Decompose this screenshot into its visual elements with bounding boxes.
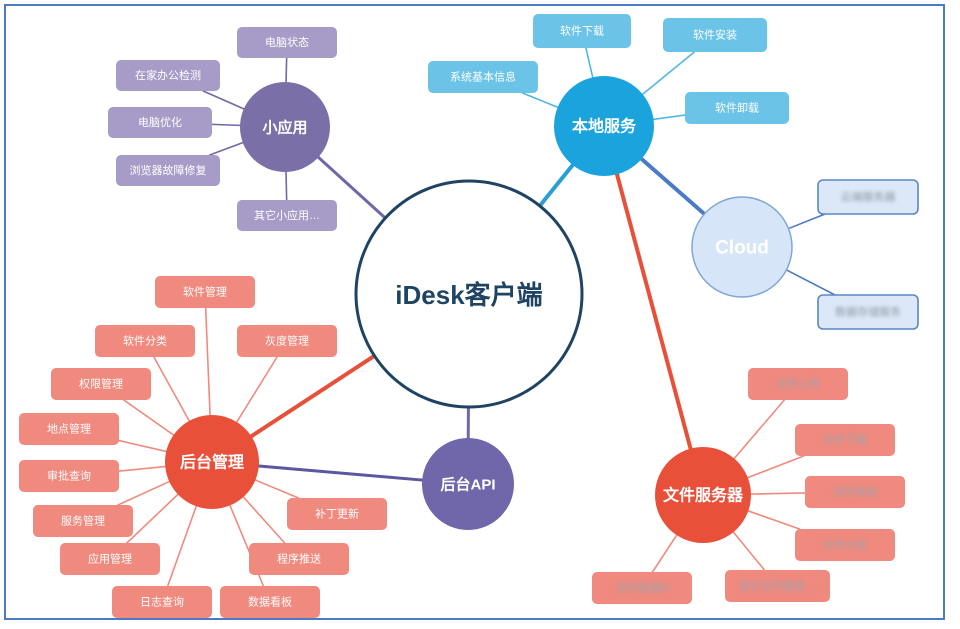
hub-node-backend-admin[interactable]: 后台管理 [165, 415, 259, 509]
leaf-label: 应用管理 [88, 552, 132, 566]
leaf-link-cloud-1 [786, 270, 835, 295]
leaf-label: 程序推送 [277, 552, 321, 566]
leaf-label: 文件下载 [823, 433, 867, 447]
leaf-link-backend-admin-11 [255, 480, 298, 498]
leaf-node-local-service-3[interactable]: 软件卸载 [685, 92, 789, 124]
leaf-label: 电脑状态 [265, 35, 309, 49]
leaf-label: 浏览器故障修复 [130, 163, 207, 177]
leaf-node-small-apps-2[interactable]: 电脑优化 [108, 107, 212, 138]
leaf-label: 文件上传 [776, 377, 820, 391]
leaf-label: 软件下载 [560, 24, 604, 38]
leaf-link-small-apps-4 [286, 172, 287, 200]
leaf-link-backend-admin-3 [124, 400, 174, 435]
leaf-node-small-apps-1[interactable]: 在家办公检测 [116, 60, 220, 91]
leaf-node-backend-admin-4[interactable]: 地点管理 [19, 413, 119, 445]
leaf-label: 其它文件服务… [739, 579, 816, 593]
hub-node-local-service[interactable]: 本地服务 [554, 76, 654, 176]
hub-node-cloud[interactable]: Cloud [692, 197, 792, 297]
leaf-node-file-server-1[interactable]: 文件下载 [795, 424, 895, 456]
leaf-link-backend-admin-4 [119, 441, 166, 452]
leaf-node-backend-admin-0[interactable]: 软件管理 [155, 276, 255, 308]
leaf-link-file-server-5 [733, 532, 764, 570]
leaf-label: 文件分发 [823, 538, 867, 552]
leaf-label: 云端服务器 [841, 191, 896, 204]
leaf-link-backend-admin-7 [127, 494, 178, 543]
leaf-node-file-server-3[interactable]: 文件分发 [795, 529, 895, 561]
hub-label: Cloud [715, 238, 769, 259]
leaf-node-local-service-1[interactable]: 软件安装 [663, 18, 767, 52]
leaf-label: 日志查询 [140, 595, 184, 609]
leaf-link-small-apps-1 [203, 91, 244, 109]
leaf-label: 软件安装 [693, 28, 737, 42]
leaf-link-local-service-2 [523, 93, 558, 107]
leaf-link-file-server-3 [748, 511, 799, 529]
leaf-link-small-apps-2 [212, 124, 240, 125]
leaf-label: 文件校验 [833, 485, 877, 499]
leaf-link-backend-admin-2 [237, 357, 277, 422]
leaf-node-backend-admin-8[interactable]: 日志查询 [112, 586, 212, 618]
hub-label: 小应用 [262, 119, 307, 137]
leaf-label: 服务管理 [61, 514, 105, 528]
leaf-node-local-service-2[interactable]: 系统基本信息 [428, 61, 538, 93]
mindmap-svg: 电脑状态在家办公检测电脑优化浏览器故障修复其它小应用…软件下载软件安装系统基本信… [0, 0, 960, 629]
leaf-label: 灰度管理 [265, 334, 309, 348]
hub-node-backend-api[interactable]: 后台API [422, 438, 514, 530]
trunk-link-center-to-local-service [540, 165, 573, 206]
leaf-label: 其它小应用… [254, 208, 320, 222]
leaf-node-file-server-0[interactable]: 文件上传 [748, 368, 848, 400]
leaf-label: 软件卸载 [715, 101, 759, 115]
hub-label: 本地服务 [572, 117, 637, 136]
leaf-link-small-apps-0 [286, 58, 287, 82]
leaf-link-file-server-0 [734, 400, 784, 459]
leaf-link-backend-admin-5 [119, 467, 165, 472]
leaf-link-file-server-2 [751, 493, 805, 494]
leaf-node-local-service-0[interactable]: 软件下载 [533, 14, 631, 48]
leaf-link-backend-admin-6 [118, 482, 169, 505]
leaf-label: 补丁更新 [315, 507, 359, 521]
leaf-node-backend-admin-6[interactable]: 服务管理 [33, 505, 133, 537]
leaf-link-small-apps-3 [210, 143, 243, 155]
leaf-link-cloud-0 [788, 214, 825, 229]
leaf-link-backend-admin-10 [243, 497, 284, 543]
leaf-node-backend-admin-9[interactable]: 数据看板 [220, 586, 320, 618]
trunk-link-local-service-to-file-server [617, 174, 691, 448]
hub-label: 后台API [440, 476, 495, 494]
leaf-node-backend-admin-7[interactable]: 应用管理 [60, 543, 160, 575]
leaf-link-file-server-4 [652, 535, 676, 572]
leaf-link-backend-admin-1 [154, 357, 189, 421]
leaf-link-backend-admin-8 [168, 506, 196, 586]
hub-node-file-server[interactable]: 文件服务器 [655, 447, 751, 543]
hub-label: iDesk客户端 [395, 280, 542, 310]
leaf-link-local-service-0 [586, 48, 593, 77]
leaf-label: 审批查询 [47, 469, 91, 483]
leaf-label: 权限管理 [79, 377, 123, 391]
leaf-label: 电脑优化 [138, 115, 182, 129]
leaf-label: 软件管理 [183, 285, 227, 299]
leaf-node-cloud-1[interactable]: 数据存储服务 [818, 295, 918, 329]
leaf-link-local-service-1 [643, 52, 695, 94]
hub-node-small-apps[interactable]: 小应用 [240, 82, 330, 172]
hub-label: 后台管理 [180, 453, 244, 472]
leaf-node-backend-admin-1[interactable]: 软件分类 [95, 325, 195, 357]
leaf-node-small-apps-3[interactable]: 浏览器故障修复 [116, 155, 220, 186]
leaf-node-file-server-4[interactable]: 文件管理M [592, 572, 692, 604]
leaf-node-cloud-0[interactable]: 云端服务器 [818, 180, 918, 214]
leaf-node-backend-admin-3[interactable]: 权限管理 [51, 368, 151, 400]
leaf-node-small-apps-4[interactable]: 其它小应用… [237, 200, 337, 231]
leaf-link-file-server-1 [748, 456, 804, 478]
leaf-node-file-server-5[interactable]: 其它文件服务… [725, 570, 830, 602]
leaf-link-backend-admin-0 [206, 308, 210, 415]
leaf-label: 数据看板 [248, 595, 292, 609]
leaf-node-backend-admin-11[interactable]: 补丁更新 [287, 498, 387, 530]
hub-node-center[interactable]: iDesk客户端 [356, 181, 582, 407]
leaf-node-backend-admin-10[interactable]: 程序推送 [249, 543, 349, 575]
hub-nodes-layer: iDesk客户端小应用本地服务Cloud后台API后台管理文件服务器 [165, 76, 792, 543]
trunk-link-backend-admin-to-backend-api [259, 466, 422, 480]
leaf-link-local-service-3 [654, 115, 685, 119]
hub-label: 文件服务器 [663, 486, 744, 505]
diagram-canvas: 电脑状态在家办公检测电脑优化浏览器故障修复其它小应用…软件下载软件安装系统基本信… [0, 0, 960, 629]
leaf-label: 地点管理 [47, 422, 91, 436]
leaf-label: 软件分类 [123, 334, 167, 348]
leaf-label: 系统基本信息 [450, 70, 516, 84]
leaf-node-file-server-2[interactable]: 文件校验 [805, 476, 905, 508]
leaf-label: 在家办公检测 [135, 68, 201, 82]
leaf-node-backend-admin-5[interactable]: 审批查询 [19, 460, 119, 492]
trunk-link-local-service-to-cloud [642, 159, 705, 214]
leaf-node-backend-admin-2[interactable]: 灰度管理 [237, 325, 337, 357]
leaf-label: 文件管理M [615, 581, 668, 595]
leaf-label: 数据存储服务 [835, 305, 901, 319]
leaf-node-small-apps-0[interactable]: 电脑状态 [237, 27, 337, 58]
